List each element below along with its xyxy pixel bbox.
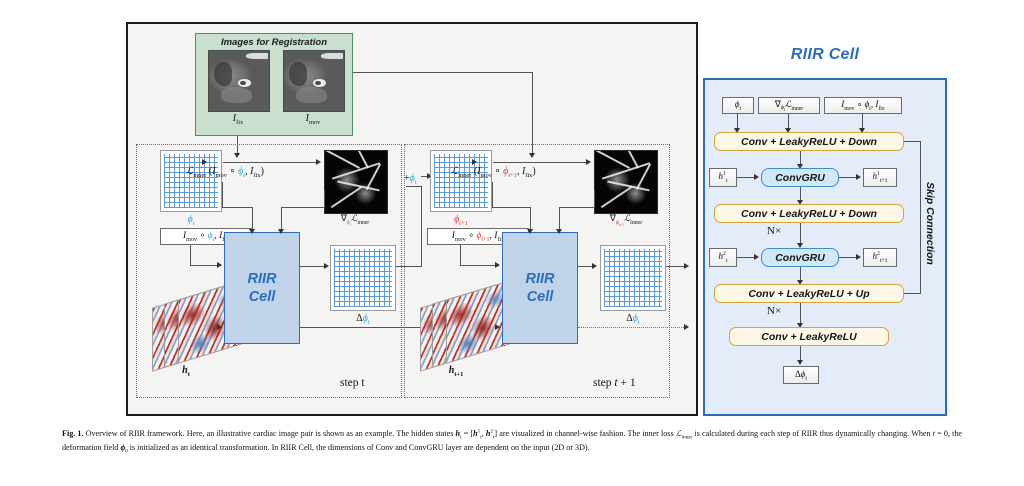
connector-moving-to-step-t1-v bbox=[532, 72, 533, 155]
arrow-hidden-into-cell-t1 bbox=[495, 324, 500, 330]
arrow-h2-out bbox=[856, 254, 861, 260]
connector-phi-down-t1 bbox=[492, 182, 493, 208]
skip-connection-label: Skip Connection bbox=[924, 182, 936, 265]
riir-cell-block-step-t1: RIIR Cell bbox=[502, 232, 578, 344]
caption-math-1: ht = [h1t, h2t] bbox=[456, 429, 498, 438]
connector-conv2-gru2 bbox=[800, 223, 801, 245]
arrow-h2-in bbox=[754, 254, 759, 260]
arrow-conv4-out bbox=[797, 360, 803, 365]
hidden-state-label-step-t1: ht+1 bbox=[420, 365, 492, 378]
step-t-label: step t bbox=[340, 377, 365, 389]
connector-grad-into-cell-t1-h bbox=[559, 207, 595, 208]
gradient-field-image-step-t1 bbox=[594, 150, 658, 214]
riir-block-conv-down-1: Conv + LeakyReLU + Down bbox=[714, 132, 904, 151]
connector-phi-to-grad-t1 bbox=[493, 162, 589, 163]
inner-loss-expression-step-t: ℒinner (Imov ∘ ϕt, Ifix) bbox=[186, 166, 264, 179]
riir-state-out-h1: h1t+1 bbox=[863, 168, 897, 187]
phi-t-grid bbox=[160, 150, 222, 212]
delta-phi-grid-step-t bbox=[330, 245, 396, 311]
arrow-loss-in-t bbox=[202, 159, 207, 165]
riir-input-warped-pair: Imov ∘ ϕt, Ifix bbox=[824, 97, 902, 114]
moving-image-thumbnail bbox=[283, 50, 345, 112]
arrow-cell-to-delta-t1 bbox=[592, 263, 597, 269]
hidden-state-label-step-t: ht bbox=[156, 365, 216, 378]
riir-block-convgru-1: ConvGRU bbox=[761, 168, 839, 187]
connector-skip-top bbox=[904, 141, 921, 142]
riir-input-gradient: ∇ϕtℒinner bbox=[758, 97, 820, 114]
riir-cell-panel-title: RIIR Cell bbox=[703, 46, 947, 64]
connector-skip-vertical bbox=[920, 141, 921, 294]
connector-phi-into-cell-t1-h bbox=[492, 207, 531, 208]
arrow-loss-out-t1 bbox=[586, 159, 591, 165]
riir-cell-line2-step-t1: Cell bbox=[527, 288, 554, 306]
images-for-registration-title: Images for Registration bbox=[196, 37, 352, 48]
repeat-label-2: N× bbox=[767, 305, 781, 317]
delta-phi-label-step-t: Δϕt bbox=[330, 313, 396, 326]
connector-warp-down-t1 bbox=[460, 245, 461, 266]
delta-phi-label-step-t1: Δϕt bbox=[600, 313, 666, 326]
connector-moving-to-step-t1-h bbox=[353, 72, 533, 73]
arrow-warp-into-cell-t1 bbox=[495, 262, 500, 268]
repeat-label-1: N× bbox=[767, 225, 781, 237]
riir-block-conv-down-2: Conv + LeakyReLU + Down bbox=[714, 204, 904, 223]
caption-text-2: are visualized in channel-wise fashion. … bbox=[497, 429, 676, 438]
running-head bbox=[0, 0, 1024, 8]
connector-cell-to-delta-t bbox=[300, 266, 326, 267]
phi-t1-grid bbox=[430, 150, 492, 212]
arrow-grad-into-cell-t1 bbox=[556, 229, 562, 234]
phi-t-label: ϕt bbox=[160, 214, 222, 227]
arrow-phi-into-cell-t bbox=[249, 229, 255, 234]
arrow-grad-into-cell-t bbox=[278, 229, 284, 234]
riir-block-conv-final: Conv + LeakyReLU bbox=[729, 327, 889, 346]
caption-math-2: ℒinner bbox=[676, 429, 692, 438]
riir-state-in-h2: h2t bbox=[709, 248, 737, 267]
connector-h1-out bbox=[839, 177, 857, 178]
connector-phi-into-cell-t-h bbox=[222, 207, 253, 208]
riir-state-in-h1: h1t bbox=[709, 168, 737, 187]
arrow-hidden-out-t1 bbox=[684, 324, 689, 330]
riir-cell-line1-step-t1: RIIR bbox=[526, 270, 555, 288]
figure-page: Images for Registration Ifix Imov step t… bbox=[0, 0, 1024, 486]
connector-h1-in bbox=[737, 177, 755, 178]
caption-text-3: is calculated during each step of RIIR t… bbox=[692, 429, 932, 438]
gradient-label-step-t1: ∇ϕt+1ℒinner bbox=[578, 213, 674, 227]
riir-block-convgru-2: ConvGRU bbox=[761, 248, 839, 267]
connector-grad-down-t bbox=[324, 190, 325, 208]
caption-text-5: is initialized as an identical transform… bbox=[128, 443, 590, 452]
gradient-field-image-step-t bbox=[324, 150, 388, 214]
caption-figure-number: Fig. 1. bbox=[62, 429, 84, 438]
figure-caption: Fig. 1. Overview of RIIR framework. Here… bbox=[62, 428, 962, 456]
riir-state-out-h2: h2t+1 bbox=[863, 248, 897, 267]
moving-image-label: Imov bbox=[283, 113, 343, 126]
connector-warp-right-t1 bbox=[460, 265, 496, 266]
connector-grad-down-t1 bbox=[594, 190, 595, 208]
arrow-phi-into-cell-t1 bbox=[527, 229, 533, 234]
arrow-loss-in-t1 bbox=[472, 159, 477, 165]
connector-hidden-out-t1 bbox=[578, 327, 688, 328]
connector-phi-down-t bbox=[222, 182, 223, 208]
arrow-loss-out-t bbox=[316, 159, 321, 165]
riir-block-conv-up: Conv + LeakyReLU + Up bbox=[714, 284, 904, 303]
connector-h2-out bbox=[839, 257, 857, 258]
riir-cell-line2-step-t: Cell bbox=[249, 288, 276, 306]
caption-text-1: Overview of RIIR framework. Here, an ill… bbox=[84, 429, 456, 438]
gradient-label-step-t: ∇ϕtℒinner bbox=[311, 213, 399, 227]
arrow-h1-out bbox=[856, 174, 861, 180]
connector-conv3-conv4 bbox=[800, 303, 801, 325]
connector-phi-to-grad-t bbox=[223, 162, 319, 163]
arrow-warp-into-cell-t bbox=[217, 262, 222, 268]
connector-skip-bottom bbox=[904, 293, 921, 294]
riir-cell-line1-step-t: RIIR bbox=[248, 270, 277, 288]
arrow-cell-to-delta-t bbox=[324, 263, 329, 269]
connector-warp-right-t bbox=[190, 265, 218, 266]
arrow-hidden-into-cell-t bbox=[217, 324, 222, 330]
riir-input-phi-t: ϕt bbox=[722, 97, 754, 114]
connector-grad-into-cell-t-h bbox=[281, 207, 325, 208]
caption-math-4: ϕ0 bbox=[120, 443, 127, 452]
caption-math-3: t = 0 bbox=[933, 429, 948, 438]
arrow-delta-out-t1 bbox=[684, 263, 689, 269]
delta-phi-grid-step-t1 bbox=[600, 245, 666, 311]
connector-h2-in bbox=[737, 257, 755, 258]
arrow-h1-in bbox=[754, 174, 759, 180]
phi-t1-label: ϕt+1 bbox=[430, 214, 492, 227]
step-t1-label: step t + 1 bbox=[593, 377, 636, 389]
riir-cell-block-step-t: RIIR Cell bbox=[224, 232, 300, 344]
riir-output-delta-phi: Δϕt bbox=[783, 366, 819, 384]
fixed-image-label: Ifix bbox=[208, 113, 268, 126]
connector-warp-down-t bbox=[190, 245, 191, 266]
fixed-image-thumbnail bbox=[208, 50, 270, 112]
inner-loss-expression-step-t1: ℒinner (Imov ∘ ϕt+1, Ifix) bbox=[451, 166, 536, 179]
